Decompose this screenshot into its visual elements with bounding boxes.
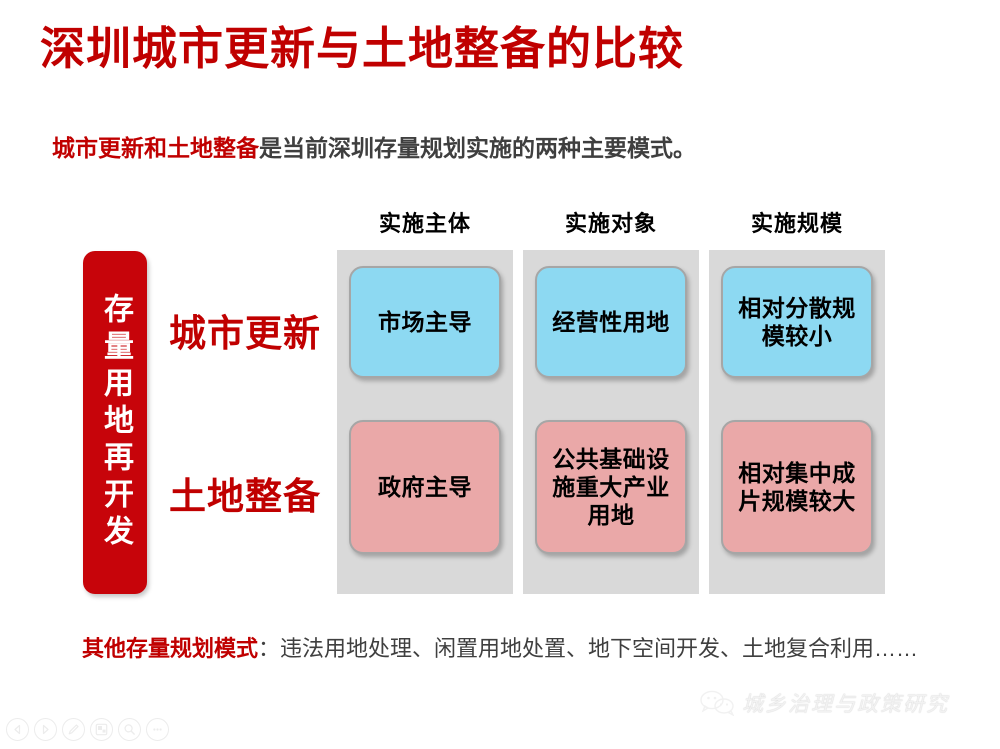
more-options-icon <box>151 723 164 736</box>
row-label-land-preparation: 土地整备 <box>160 466 330 520</box>
previous-icon <box>12 724 23 735</box>
column-panel-implementing-scale: 相对分散规模较小 相对集中成片规模较大 <box>709 250 885 594</box>
subtitle-accent: 城市更新和土地整备 <box>52 135 259 161</box>
cell-land-preparation-scale: 相对集中成片规模较大 <box>721 420 873 554</box>
more-options-button[interactable] <box>146 718 169 741</box>
cell-urban-renewal-scale: 相对分散规模较小 <box>721 266 873 378</box>
pen-button[interactable] <box>62 718 85 741</box>
column-header-implementing-object: 实施对象 <box>523 206 699 238</box>
column-header-implementing-scale: 实施规模 <box>709 206 885 238</box>
cell-urban-renewal-entity: 市场主导 <box>349 266 501 378</box>
footer-note: 其他存量规划模式：违法用地处理、闲置用地处置、地下空间开发、土地复合利用…… <box>82 628 942 670</box>
magnifier-icon <box>123 723 136 736</box>
watermark: 城乡治理与政策研究 <box>700 688 949 718</box>
vertical-category-bar: 存量用地再开发 <box>83 251 147 594</box>
slides-grid-button[interactable] <box>90 718 113 741</box>
cell-land-preparation-object: 公共基础设施重大产业用地 <box>535 420 687 554</box>
footer-note-accent: 其他存量规划模式 <box>82 636 258 661</box>
cell-urban-renewal-object: 经营性用地 <box>535 266 687 378</box>
watermark-text: 城乡治理与政策研究 <box>742 688 949 718</box>
slide-canvas: 深圳城市更新与土地整备的比较 城市更新和土地整备是当前深圳存量规划实施的两种主要… <box>0 0 1000 749</box>
subtitle-rest: 是当前深圳存量规划实施的两种主要模式。 <box>259 135 696 161</box>
page-title: 深圳城市更新与土地整备的比较 <box>40 22 684 76</box>
row-label-urban-renewal: 城市更新 <box>160 303 330 357</box>
slides-grid-icon <box>95 723 108 736</box>
wechat-icon <box>700 690 734 716</box>
vertical-category-label: 存量用地再开发 <box>100 293 130 552</box>
column-header-implementing-entity: 实施主体 <box>337 206 513 238</box>
magnifier-button[interactable] <box>118 718 141 741</box>
previous-button[interactable] <box>6 718 29 741</box>
column-panel-implementing-object: 经营性用地 公共基础设施重大产业用地 <box>523 250 699 594</box>
footer-note-rest: ：违法用地处理、闲置用地处置、地下空间开发、土地复合利用…… <box>258 636 918 661</box>
play-icon <box>40 724 51 735</box>
play-button[interactable] <box>34 718 57 741</box>
column-panel-implementing-entity: 市场主导 政府主导 <box>337 250 513 594</box>
slide-toolbar <box>6 718 169 741</box>
subtitle: 城市更新和土地整备是当前深圳存量规划实施的两种主要模式。 <box>52 134 696 164</box>
cell-land-preparation-entity: 政府主导 <box>349 420 501 554</box>
pen-icon <box>67 723 80 736</box>
